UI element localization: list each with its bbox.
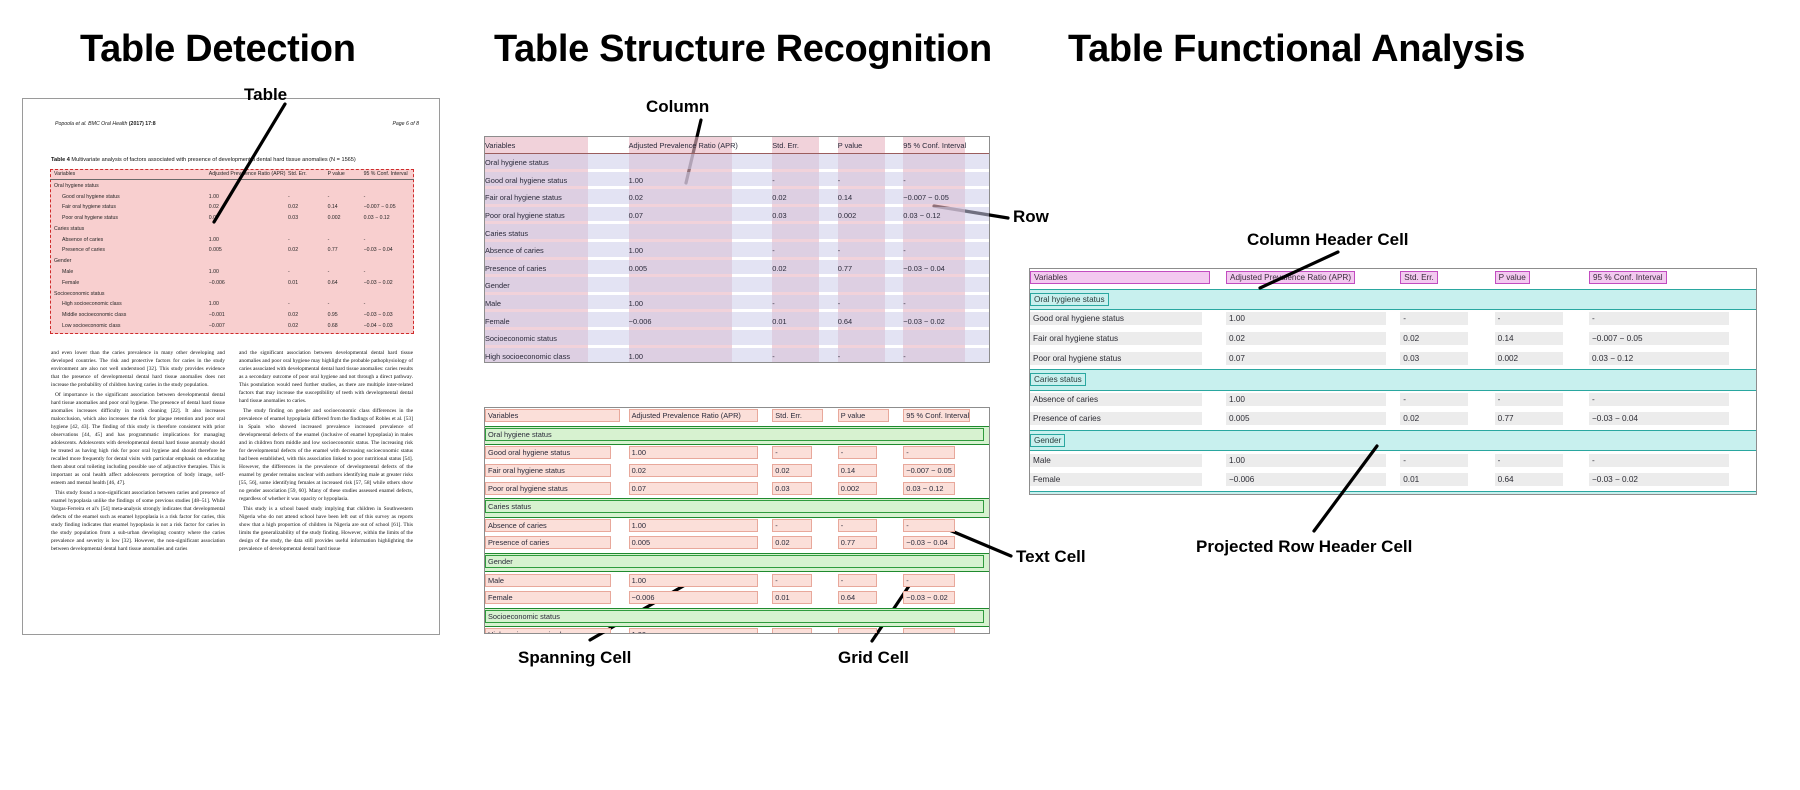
table-cell: Fair oral hygiene status — [1030, 330, 1226, 350]
table-cell: −0.03 − 0.04 — [364, 245, 414, 256]
paper-running-head-ref: (2017) 17:8 — [129, 121, 156, 127]
table-row: Male1.00--- — [50, 267, 414, 278]
table-cell: Good oral hygiene status — [485, 445, 629, 463]
data-cell: 1.00 — [1226, 454, 1386, 467]
table-cell: 0.02 — [772, 463, 838, 481]
spanning-cell: Socioeconomic status — [485, 610, 984, 623]
table-cell: Female — [1030, 471, 1226, 491]
structure-recognition-rows-columns-table: VariablesAdjusted Prevalence Ratio (APR)… — [484, 136, 990, 363]
text-cell: Absence of caries — [485, 519, 611, 532]
table-cell: 1.00 — [1226, 390, 1400, 410]
table-cell — [288, 224, 328, 235]
annotation-label-table: Table — [244, 85, 287, 105]
table-cell — [838, 224, 904, 242]
table-cell: Absence of caries — [1030, 390, 1226, 410]
data-cell: - — [1589, 312, 1729, 325]
data-cell: - — [1400, 312, 1468, 325]
paper-body-column-right: and the significant association between … — [239, 349, 413, 555]
table-row: Poor oral hygiene status0.070.030.0020.0… — [50, 213, 414, 224]
table-row: Male1.00--- — [1030, 451, 1756, 471]
table-cell: - — [1400, 451, 1494, 471]
table-cell: - — [903, 295, 989, 313]
paper-paragraph: This study is a school based study imply… — [239, 505, 413, 553]
table-cell — [629, 330, 773, 348]
table-cell: - — [838, 627, 904, 634]
paper-body-text: and even lower than the caries prevalenc… — [51, 349, 413, 555]
table-cell: - — [903, 572, 989, 590]
data-cell: - — [1495, 454, 1563, 467]
table-cell: Caries status — [485, 224, 629, 242]
table-row: High socioeconomic class1.00--- — [485, 627, 989, 634]
table-cell — [328, 180, 364, 191]
column-header-container: P value — [1495, 269, 1589, 289]
table-cell: 0.005 — [209, 245, 288, 256]
table-cell: 0.77 — [838, 535, 904, 553]
table-group-row: Oral hygiene status — [50, 180, 414, 191]
table-cell: 0.68 — [328, 321, 364, 332]
table-cell — [838, 330, 904, 348]
table-cell: 0.005 — [629, 260, 773, 278]
paper-paragraph: and the significant association between … — [239, 349, 413, 405]
table-group-row: Socioeconomic status — [485, 330, 989, 348]
row-header-cell: Fair oral hygiene status — [1030, 332, 1202, 345]
grid-cell: 95 % Conf. Interval — [903, 409, 970, 422]
grid-cell: −0.006 — [629, 591, 758, 604]
spanning-cell-container: Caries status — [485, 498, 989, 517]
table-cell: −0.03 − 0.04 — [1589, 410, 1756, 430]
table-cell — [364, 288, 414, 299]
column-header-container: 95 % Conf. Interval — [1589, 269, 1756, 289]
grid-cell: - — [903, 519, 954, 532]
grid-cell: Variables — [485, 409, 620, 422]
table-cell: 0.95 — [328, 310, 364, 321]
functional-analysis-table: VariablesAdjusted Prevalence Ratio (APR)… — [1029, 268, 1757, 495]
table-cell: 1.00 — [629, 517, 773, 535]
table-cell: 0.002 — [328, 213, 364, 224]
table-cell: 0.02 — [1400, 410, 1494, 430]
table-cell: - — [903, 445, 989, 463]
data-cell: - — [1589, 454, 1729, 467]
table-row: Poor oral hygiene status0.070.030.0020.0… — [485, 480, 989, 498]
paper-running-head: Popoola et al. BMC Oral Health (2017) 17… — [55, 121, 419, 127]
spanning-cell-container: Gender — [485, 553, 989, 572]
data-cell: 0.07 — [1226, 352, 1386, 365]
table-cell: Gender — [485, 277, 629, 295]
table-cell: 0.02 — [288, 245, 328, 256]
table-row: Poor oral hygiene status0.070.030.0020.0… — [1030, 349, 1756, 369]
table-cell: - — [364, 267, 414, 278]
text-cell: Poor oral hygiene status — [485, 482, 611, 495]
table-cell — [629, 277, 773, 295]
table-cell — [328, 256, 364, 267]
grid-cell: Std. Err. — [772, 409, 823, 422]
grid-cell: - — [838, 628, 877, 634]
grid-cell: −0.03 − 0.04 — [903, 536, 954, 549]
column-header-cell: Std. Err. — [288, 169, 328, 180]
table-cell — [209, 288, 288, 299]
table-cell: 0.14 — [838, 463, 904, 481]
table-cell: −0.006 — [209, 277, 288, 288]
table-cell: - — [1589, 310, 1756, 330]
grid-cell: −0.03 − 0.02 — [903, 591, 954, 604]
table-row: Presence of caries0.0050.020.77−0.03 − 0… — [1030, 410, 1756, 430]
grid-cell: 1.00 — [629, 628, 758, 634]
table-row: High socioeconomic class1.00--- — [50, 299, 414, 310]
table-cell: 0.07 — [1226, 349, 1400, 369]
column-header-cell: Std. Err. — [772, 137, 838, 154]
table-row: Female−0.0060.010.64−0.03 − 0.02 — [1030, 471, 1756, 491]
table-cell: 1.00 — [629, 172, 773, 190]
table-cell — [288, 180, 328, 191]
table-cell: - — [364, 191, 414, 202]
table-cell: Presence of caries — [485, 535, 629, 553]
table-group-row: Caries status — [50, 224, 414, 235]
table-cell: Poor oral hygiene status — [485, 480, 629, 498]
annotation-label-spanning-cell: Spanning Cell — [518, 648, 631, 668]
table-cell: 0.77 — [1495, 410, 1589, 430]
table-cell: - — [838, 517, 904, 535]
table-cell: - — [903, 627, 989, 634]
table-cell: - — [364, 234, 414, 245]
grid-cell: - — [903, 628, 954, 634]
table-cell: - — [328, 267, 364, 278]
paper-body-column-left: and even lower than the caries prevalenc… — [51, 349, 225, 555]
grid-cell: 0.14 — [838, 464, 877, 477]
annotation-label-column: Column — [646, 97, 709, 117]
table-cell: −0.006 — [1226, 471, 1400, 491]
table-cell: 0.002 — [838, 207, 904, 225]
table-cell: 0.02 — [209, 202, 288, 213]
paper-table-caption: Table 4 Multivariate analysis of factors… — [51, 157, 413, 164]
table-group-row: Gender — [485, 277, 989, 295]
table-cell: 0.03 − 0.12 — [903, 480, 989, 498]
table-cell: 0.02 — [772, 260, 838, 278]
table-cell: −0.03 − 0.04 — [903, 535, 989, 553]
data-cell: 0.64 — [1495, 473, 1563, 486]
paper-page-preview: Popoola et al. BMC Oral Health (2017) 17… — [22, 98, 440, 635]
data-cell: −0.03 − 0.02 — [1589, 473, 1729, 486]
table-row: Fair oral hygiene status0.020.020.14−0.0… — [485, 189, 989, 207]
grid-cell: 0.002 — [838, 482, 877, 495]
table-cell: - — [772, 627, 838, 634]
text-cell: Fair oral hygiene status — [485, 464, 611, 477]
table-cell: −0.007 − 0.05 — [903, 189, 989, 207]
table-cell: 0.03 — [288, 213, 328, 224]
table-cell: Absence of caries — [50, 234, 209, 245]
column-header-cell: 95 % Conf. Interval — [903, 137, 989, 154]
table-cell: Male — [485, 295, 629, 313]
table-cell — [209, 180, 288, 191]
table-cell: 0.03 − 0.12 — [364, 213, 414, 224]
text-cell: Female — [485, 591, 611, 604]
table-cell: Female — [485, 312, 629, 330]
table-cell: Poor oral hygiene status — [50, 213, 209, 224]
grid-cell: 0.64 — [838, 591, 877, 604]
spanning-cell-row: Socioeconomic status — [485, 608, 989, 627]
table-cell: −0.03 − 0.03 — [364, 310, 414, 321]
table-cell: - — [903, 517, 989, 535]
data-cell: 0.03 − 0.12 — [1589, 352, 1729, 365]
grid-cell: - — [838, 574, 877, 587]
table-cell: Middle socioeconomic class — [50, 310, 209, 321]
spanning-cell-container: Oral hygiene status — [485, 426, 989, 445]
table-row: Absence of caries1.00--- — [50, 234, 414, 245]
spanning-cell-row: Oral hygiene status — [485, 426, 989, 445]
table-cell: - — [903, 348, 989, 363]
table-cell — [772, 277, 838, 295]
column-header-cell: Std. Err. — [1400, 271, 1438, 284]
grid-cell: 0.02 — [629, 464, 758, 477]
paper-paragraph: This study found a non-significant assoc… — [51, 489, 225, 553]
table-cell: Oral hygiene status — [485, 154, 629, 172]
table-cell: 0.02 — [288, 310, 328, 321]
table-cell: Low socioeconomic class — [50, 321, 209, 332]
table-cell: Fair oral hygiene status — [485, 189, 629, 207]
grid-cell: 1.00 — [629, 519, 758, 532]
column-header-cell: 95 % Conf. Interval — [903, 408, 989, 426]
column-header-cell: Variables — [485, 137, 629, 154]
data-cell: 0.02 — [1400, 332, 1468, 345]
table-cell: 1.00 — [209, 299, 288, 310]
annotation-label-grid-cell: Grid Cell — [838, 648, 909, 668]
table-row: Female−0.0060.010.64−0.03 − 0.02 — [485, 590, 989, 608]
table-cell: - — [364, 299, 414, 310]
paper-table: VariablesAdjusted Prevalence Ratio (APR)… — [50, 169, 414, 331]
row-header-cell: Female — [1030, 473, 1202, 486]
table-cell: 1.00 — [1226, 451, 1400, 471]
grid-cell: Adjusted Prevalence Ratio (APR) — [629, 409, 758, 422]
grid-cell: - — [772, 519, 811, 532]
table-cell: 1.00 — [209, 267, 288, 278]
table-row: Good oral hygiene status1.00--- — [50, 191, 414, 202]
column-header-cell: Std. Err. — [772, 408, 838, 426]
table-cell: - — [1589, 390, 1756, 410]
table-cell: - — [288, 267, 328, 278]
table-row: Female−0.0060.010.64−0.03 − 0.02 — [485, 312, 989, 330]
table-cell: −0.03 − 0.02 — [1589, 471, 1756, 491]
table-cell: 0.03 — [1400, 349, 1494, 369]
table-cell: 0.03 − 0.12 — [903, 207, 989, 225]
detected-table-region: VariablesAdjusted Prevalence Ratio (APR)… — [50, 169, 414, 334]
structure-table-top: VariablesAdjusted Prevalence Ratio (APR)… — [485, 137, 989, 363]
table-cell: 1.00 — [629, 445, 773, 463]
table-row: Female−0.0060.010.64−0.03 − 0.02 — [50, 277, 414, 288]
column-header-cell: Adjusted Prevalence Ratio (APR) — [629, 408, 773, 426]
table-cell: 0.07 — [629, 480, 773, 498]
spanning-cell: Oral hygiene status — [485, 428, 984, 441]
table-cell: 0.14 — [328, 202, 364, 213]
table-row: Fair oral hygiene status0.020.020.14−0.0… — [485, 463, 989, 481]
table-cell: Presence of caries — [485, 260, 629, 278]
table-cell — [903, 224, 989, 242]
table-cell: Gender — [50, 256, 209, 267]
table-cell: 0.02 — [772, 535, 838, 553]
data-cell: 0.005 — [1226, 412, 1386, 425]
projected-row-header: Gender — [1030, 430, 1756, 451]
table-cell: 0.02 — [1226, 330, 1400, 350]
table-cell — [903, 330, 989, 348]
column-header-container: Adjusted Prevalence Ratio (APR) — [1226, 269, 1400, 289]
table-cell: - — [288, 234, 328, 245]
text-cell: Presence of caries — [485, 536, 611, 549]
paper-page-number: Page 6 of 8 — [392, 121, 419, 127]
grid-cell: 0.07 — [629, 482, 758, 495]
projected-row-header-cell: Oral hygiene status — [1030, 293, 1109, 306]
table-cell: −0.03 − 0.04 — [903, 260, 989, 278]
table-cell: −0.007 — [209, 321, 288, 332]
table-cell: Fair oral hygiene status — [485, 463, 629, 481]
table-cell: Good oral hygiene status — [485, 172, 629, 190]
table-cell: 0.01 — [772, 590, 838, 608]
grid-cell: 1.00 — [629, 446, 758, 459]
table-cell: 1.00 — [209, 191, 288, 202]
row-header-cell: Presence of caries — [1030, 412, 1202, 425]
table-row: Low socioeconomic class−0.0070.020.68−0.… — [50, 321, 414, 332]
table-row: Poor oral hygiene status0.070.030.0020.0… — [485, 207, 989, 225]
table-cell: - — [772, 242, 838, 260]
table-cell — [772, 224, 838, 242]
grid-cell: 0.02 — [772, 464, 811, 477]
table-cell: 0.64 — [838, 312, 904, 330]
column-header-cell: Adjusted Prevalence Ratio (APR) — [1226, 271, 1355, 284]
table-cell — [772, 330, 838, 348]
table-cell: 0.03 − 0.12 — [1589, 349, 1756, 369]
table-cell: −0.007 − 0.05 — [1589, 330, 1756, 350]
data-cell: −0.03 − 0.04 — [1589, 412, 1729, 425]
table-row: Presence of caries0.0050.020.77−0.03 − 0… — [485, 535, 989, 553]
annotation-label-row: Row — [1013, 207, 1049, 227]
table-cell: - — [772, 295, 838, 313]
table-cell: - — [772, 572, 838, 590]
data-cell: 0.01 — [1400, 473, 1468, 486]
annotation-label-column-header-cell: Column Header Cell — [1247, 230, 1409, 250]
table-cell: - — [838, 242, 904, 260]
column-header-container: Variables — [1030, 269, 1226, 289]
grid-cell: P value — [838, 409, 889, 422]
paper-paragraph: Of importance is the significant associa… — [51, 391, 225, 487]
table-cell: 1.00 — [209, 234, 288, 245]
table-cell: Male — [50, 267, 209, 278]
table-cell: - — [1400, 390, 1494, 410]
data-cell: 0.03 — [1400, 352, 1468, 365]
table-cell: 0.77 — [838, 260, 904, 278]
functional-table: VariablesAdjusted Prevalence Ratio (APR)… — [1030, 269, 1756, 495]
table-cell: 1.00 — [629, 627, 773, 634]
grid-cell: - — [772, 574, 811, 587]
table-row: Male1.00--- — [485, 572, 989, 590]
paper-table-caption-text: Multivariate analysis of factors associa… — [71, 157, 355, 163]
spanning-cell: Gender — [485, 555, 984, 568]
column-header-cell: P value — [328, 169, 364, 180]
table-cell: Female — [50, 277, 209, 288]
table-cell: 0.02 — [772, 189, 838, 207]
table-header-row: VariablesAdjusted Prevalence Ratio (APR)… — [485, 137, 989, 154]
table-row: Presence of caries0.0050.020.77−0.03 − 0… — [50, 245, 414, 256]
table-cell: Presence of caries — [1030, 410, 1226, 430]
column-header-cell: P value — [838, 408, 904, 426]
column-header-cell: Adjusted Prevalence Ratio (APR) — [629, 137, 773, 154]
table-cell: 1.00 — [629, 348, 773, 363]
projected-row-header-container: Oral hygiene status — [1030, 289, 1756, 310]
table-cell: - — [1495, 390, 1589, 410]
table-cell: - — [772, 445, 838, 463]
table-cell — [838, 154, 904, 172]
table-row: Fair oral hygiene status0.020.020.14−0.0… — [50, 202, 414, 213]
table-cell: Good oral hygiene status — [50, 191, 209, 202]
table-cell: - — [838, 295, 904, 313]
spanning-cell-row: Caries status — [485, 498, 989, 517]
grid-cell: - — [838, 446, 877, 459]
table-cell: 0.64 — [838, 590, 904, 608]
table-row: Absence of caries1.00--- — [1030, 390, 1756, 410]
data-cell: 1.00 — [1226, 393, 1386, 406]
annotation-label-projected-row-header-cell: Projected Row Header Cell — [1196, 537, 1412, 557]
row-header-cell: Absence of caries — [1030, 393, 1202, 406]
table-cell: Presence of caries — [50, 245, 209, 256]
table-cell: 0.64 — [328, 277, 364, 288]
panel-title-table-functional-analysis: Table Functional Analysis — [1068, 28, 1525, 71]
projected-row-header: Caries status — [1030, 369, 1756, 390]
data-cell: - — [1495, 312, 1563, 325]
table-cell — [838, 277, 904, 295]
table-cell: - — [838, 172, 904, 190]
table-row: Absence of caries1.00--- — [485, 517, 989, 535]
projected-row-header-container: Gender — [1030, 430, 1756, 451]
table-cell: Caries status — [50, 224, 209, 235]
grid-cell: - — [903, 574, 954, 587]
grid-cell: 0.01 — [772, 591, 811, 604]
table-cell: - — [903, 242, 989, 260]
table-cell: 0.002 — [1495, 349, 1589, 369]
table-cell: - — [1495, 310, 1589, 330]
table-cell: Male — [1030, 451, 1226, 471]
paper-running-head-text: Popoola et al. BMC Oral Health — [55, 121, 127, 127]
table-cell: 0.01 — [288, 277, 328, 288]
column-header-cell: Variables — [50, 169, 209, 180]
table-cell: - — [1495, 451, 1589, 471]
table-cell: 0.02 — [629, 463, 773, 481]
table-cell: 0.01 — [1400, 471, 1494, 491]
table-cell: −0.007 − 0.05 — [903, 463, 989, 481]
table-cell — [328, 224, 364, 235]
grid-cell: - — [772, 628, 811, 634]
table-cell: 0.005 — [1226, 410, 1400, 430]
table-cell: −0.04 − 0.03 — [364, 321, 414, 332]
table-cell — [209, 224, 288, 235]
table-cell: - — [328, 234, 364, 245]
table-cell: - — [288, 299, 328, 310]
table-cell: Poor oral hygiene status — [1030, 349, 1226, 369]
table-cell: 0.02 — [629, 189, 773, 207]
text-cell: Good oral hygiene status — [485, 446, 611, 459]
data-cell: 1.00 — [1226, 312, 1386, 325]
table-row: Fair oral hygiene status0.020.020.14−0.0… — [1030, 330, 1756, 350]
data-cell: 0.002 — [1495, 352, 1563, 365]
projected-row-header-cell: Caries status — [1030, 373, 1086, 386]
table-group-row: Oral hygiene status — [485, 154, 989, 172]
row-header-cell: Male — [1030, 454, 1202, 467]
table-cell: Oral hygiene status — [50, 180, 209, 191]
table-cell: 0.07 — [209, 213, 288, 224]
table-cell: High socioeconomic class — [485, 348, 629, 363]
table-cell — [772, 154, 838, 172]
table-cell — [364, 256, 414, 267]
text-cell: Male — [485, 574, 611, 587]
table-cell: - — [838, 445, 904, 463]
data-cell: 0.02 — [1226, 332, 1386, 345]
table-cell — [209, 256, 288, 267]
table-row: Good oral hygiene status1.00--- — [1030, 310, 1756, 330]
